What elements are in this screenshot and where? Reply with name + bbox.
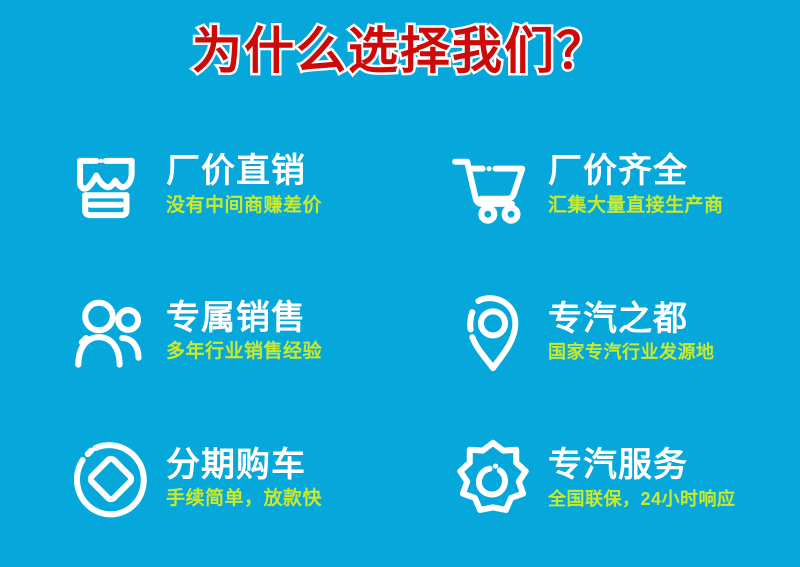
feature-item-special-vehicle-capital: 专汽之都 国家专汽行业发源地: [410, 259, 790, 406]
feature-text-group: 分期购车 手续简单，放款快: [166, 446, 322, 512]
page-title: 为什么选择我们？: [192, 24, 608, 79]
feature-item-installment-purchase: 分期购车 手续简单，放款快: [10, 405, 390, 552]
feature-subtitle: 全国联保，24小时响应: [548, 488, 736, 511]
feature-text-group: 专汽服务 全国联保，24小时响应: [548, 446, 736, 510]
gear-icon: [450, 436, 536, 522]
feature-grid: 厂价直销 没有中间商赚差价 厂价齐全 汇集大量直接生产商: [0, 112, 800, 552]
promo-banner: 为什么选择我们？ 厂价直销 没有中间商赚差价: [0, 0, 800, 567]
feature-title: 分期购车: [166, 446, 322, 484]
feature-title: 厂价直销: [166, 152, 322, 190]
map-pin-icon: [450, 289, 536, 375]
feature-title: 专属销售: [166, 299, 322, 337]
feature-item-full-factory-range: 厂价齐全 汇集大量直接生产商: [410, 112, 790, 259]
feature-subtitle: 手续简单，放款快: [166, 487, 322, 512]
feature-subtitle: 汇集大量直接生产商: [548, 194, 724, 219]
circle-diamond-icon: [68, 436, 154, 522]
feature-subtitle: 多年行业销售经验: [166, 340, 322, 365]
feature-title: 专汽服务: [548, 446, 736, 484]
feature-text-group: 厂价齐全 汇集大量直接生产商: [548, 152, 724, 218]
two-people-icon: [68, 289, 154, 375]
feature-text-group: 专属销售 多年行业销售经验: [166, 299, 322, 365]
banner-title-wrap: 为什么选择我们？: [0, 24, 800, 79]
feature-title: 专汽之都: [548, 300, 715, 338]
feature-text-group: 厂价直销 没有中间商赚差价: [166, 152, 322, 218]
feature-text-group: 专汽之都 国家专汽行业发源地: [548, 300, 715, 364]
feature-item-dedicated-sales: 专属销售 多年行业销售经验: [10, 259, 390, 406]
feature-item-factory-direct-sales: 厂价直销 没有中间商赚差价: [10, 112, 390, 259]
feature-subtitle: 没有中间商赚差价: [166, 194, 322, 219]
feature-subtitle: 国家专汽行业发源地: [548, 341, 715, 364]
storefront-icon: [68, 142, 154, 228]
shopping-cart-icon: [450, 142, 536, 228]
feature-item-special-vehicle-service: 专汽服务 全国联保，24小时响应: [410, 405, 790, 552]
feature-title: 厂价齐全: [548, 152, 724, 190]
